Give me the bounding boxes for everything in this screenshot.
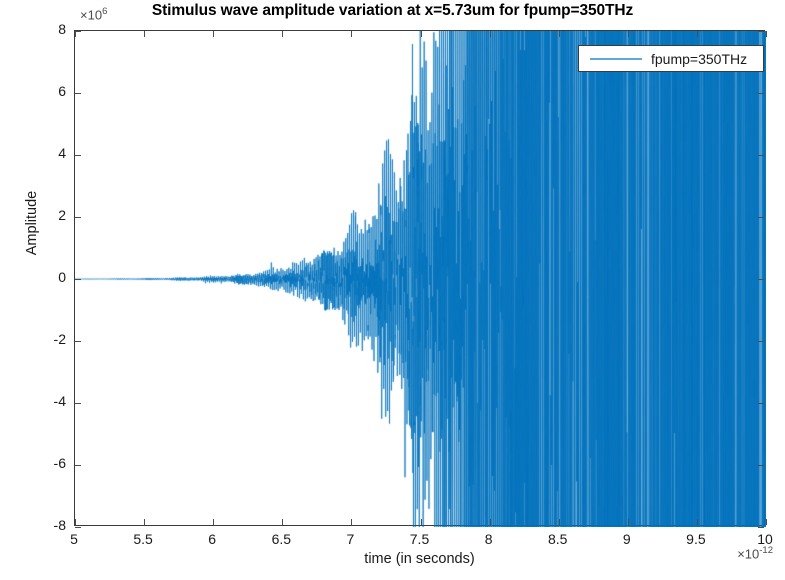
y-tick-label-text: -2 [54, 331, 66, 347]
legend-item-label: fpump=350THz [651, 51, 747, 67]
waveform-plot-canvas [75, 31, 766, 527]
y-tick-mark [758, 403, 764, 404]
y-tick-label-text: 2 [58, 207, 66, 223]
x-tick-mark [559, 519, 560, 525]
y-tick-label-text: -8 [54, 517, 66, 533]
x-tick-mark [144, 31, 145, 37]
y-tick-mark [758, 155, 764, 156]
y-tick-label-text: 8 [58, 21, 66, 37]
x-tick-mark [697, 31, 698, 37]
x-tick-label: 7 [346, 531, 354, 547]
x-tick-mark [213, 519, 214, 525]
y-tick-mark [758, 31, 764, 32]
y-tick-mark [758, 341, 764, 342]
x-tick-mark [282, 31, 283, 37]
y-tick-mark [75, 527, 81, 528]
y-tick-mark [758, 217, 764, 218]
y-tick-mark [75, 155, 81, 156]
y-tick-mark [75, 217, 81, 218]
x-tick-label: 9.5 [686, 531, 705, 547]
y-axis-label: Amplitude [24, 158, 40, 288]
y-exponent-power: 6 [102, 6, 107, 17]
y-exponent-mantissa: ×10 [80, 7, 102, 22]
x-tick-mark [421, 519, 422, 525]
x-tick-label: 5.5 [133, 531, 152, 547]
legend-line-swatch [590, 58, 642, 60]
x-tick-label: 6.5 [272, 531, 291, 547]
x-axis-label: time (in seconds) [74, 551, 765, 567]
x-tick-mark [144, 519, 145, 525]
x-tick-mark [766, 31, 767, 37]
x-tick-label: 5 [70, 531, 78, 547]
x-tick-mark [351, 31, 352, 37]
x-tick-mark [351, 519, 352, 525]
x-tick-mark [213, 31, 214, 37]
y-tick-mark [758, 279, 764, 280]
x-tick-mark [559, 31, 560, 37]
y-tick-label-text: -6 [54, 455, 66, 471]
matlab-figure: Stimulus wave amplitude variation at x=5… [0, 0, 785, 580]
plot-axes [74, 30, 765, 526]
y-tick-mark [75, 93, 81, 94]
legend[interactable]: fpump=350THz [578, 45, 764, 72]
x-tick-label: 10 [757, 531, 773, 547]
y-tick-mark [758, 93, 764, 94]
x-tick-label: 6 [208, 531, 216, 547]
y-tick-label-text: 6 [58, 83, 66, 99]
x-tick-label: 8 [485, 531, 493, 547]
x-tick-mark [628, 519, 629, 525]
x-tick-label: 8.5 [548, 531, 567, 547]
x-tick-mark [421, 31, 422, 37]
y-tick-mark [75, 341, 81, 342]
x-tick-mark [490, 31, 491, 37]
y-tick-label-text: 4 [58, 145, 66, 161]
x-tick-label: 9 [623, 531, 631, 547]
x-tick-label: 7.5 [410, 531, 429, 547]
y-tick-mark [758, 465, 764, 466]
x-tick-mark [766, 519, 767, 525]
y-axis-exponent-label: ×106 [80, 6, 107, 22]
y-tick-mark [75, 465, 81, 466]
x-tick-mark [697, 519, 698, 525]
y-tick-mark [758, 527, 764, 528]
y-tick-mark [75, 31, 81, 32]
x-tick-mark [628, 31, 629, 37]
page-title: Stimulus wave amplitude variation at x=5… [0, 2, 785, 20]
x-tick-mark [490, 519, 491, 525]
x-tick-mark [282, 519, 283, 525]
y-tick-mark [75, 279, 81, 280]
y-tick-label-text: 0 [58, 269, 66, 285]
y-tick-mark [75, 403, 81, 404]
y-tick-label-text: -4 [54, 393, 66, 409]
x-tick-mark [75, 519, 76, 525]
